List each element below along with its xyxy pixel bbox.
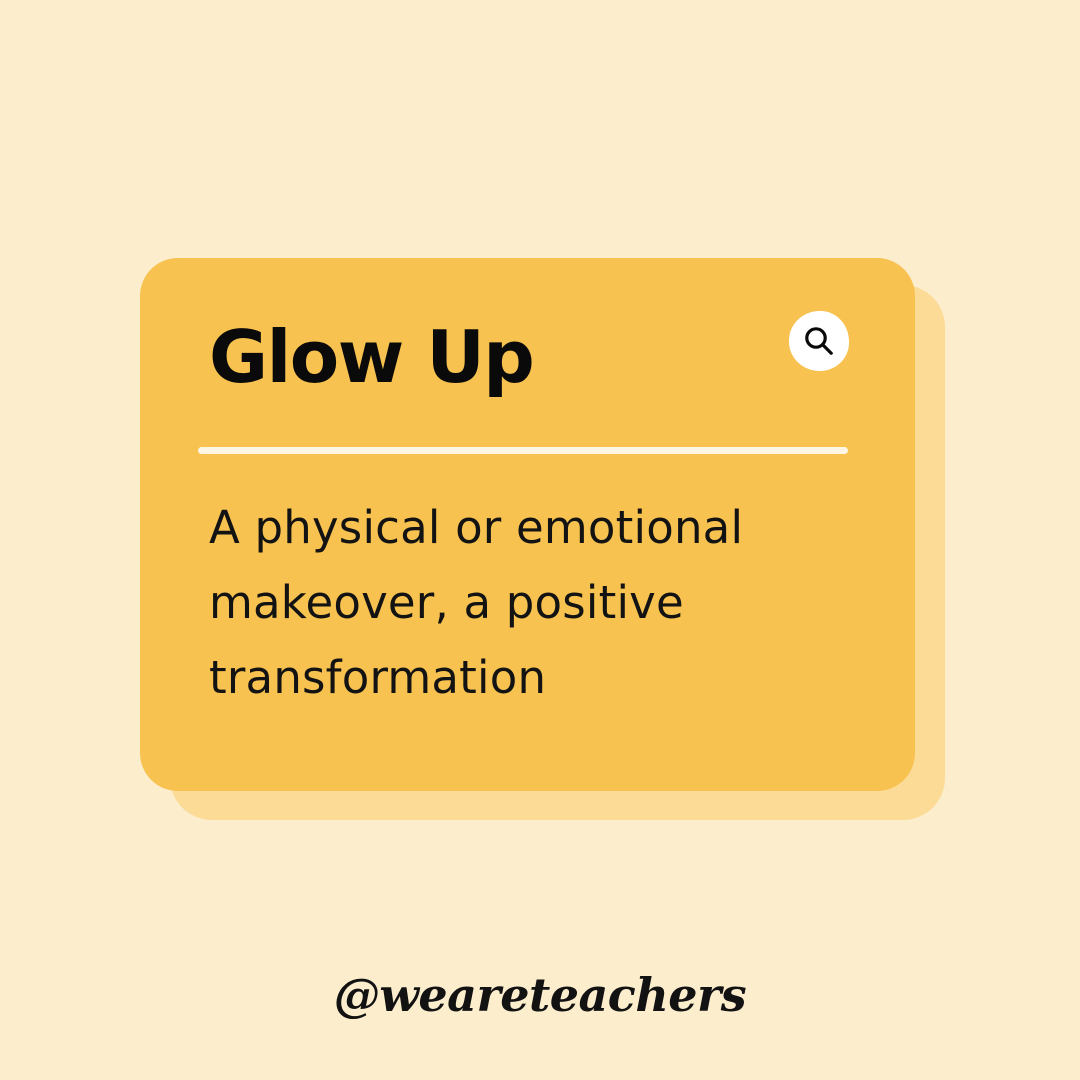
slide-canvas: Glow Up A physical or emotional makeover… xyxy=(0,0,1080,1080)
definition-text: A physical or emotional makeover, a posi… xyxy=(209,490,849,715)
search-icon xyxy=(802,324,836,358)
title-divider xyxy=(198,447,848,454)
definition-card: Glow Up A physical or emotional makeover… xyxy=(140,258,915,791)
search-button[interactable] xyxy=(789,311,849,371)
page-title: Glow Up xyxy=(209,321,533,393)
social-handle: @weareteachers xyxy=(0,968,1080,1022)
